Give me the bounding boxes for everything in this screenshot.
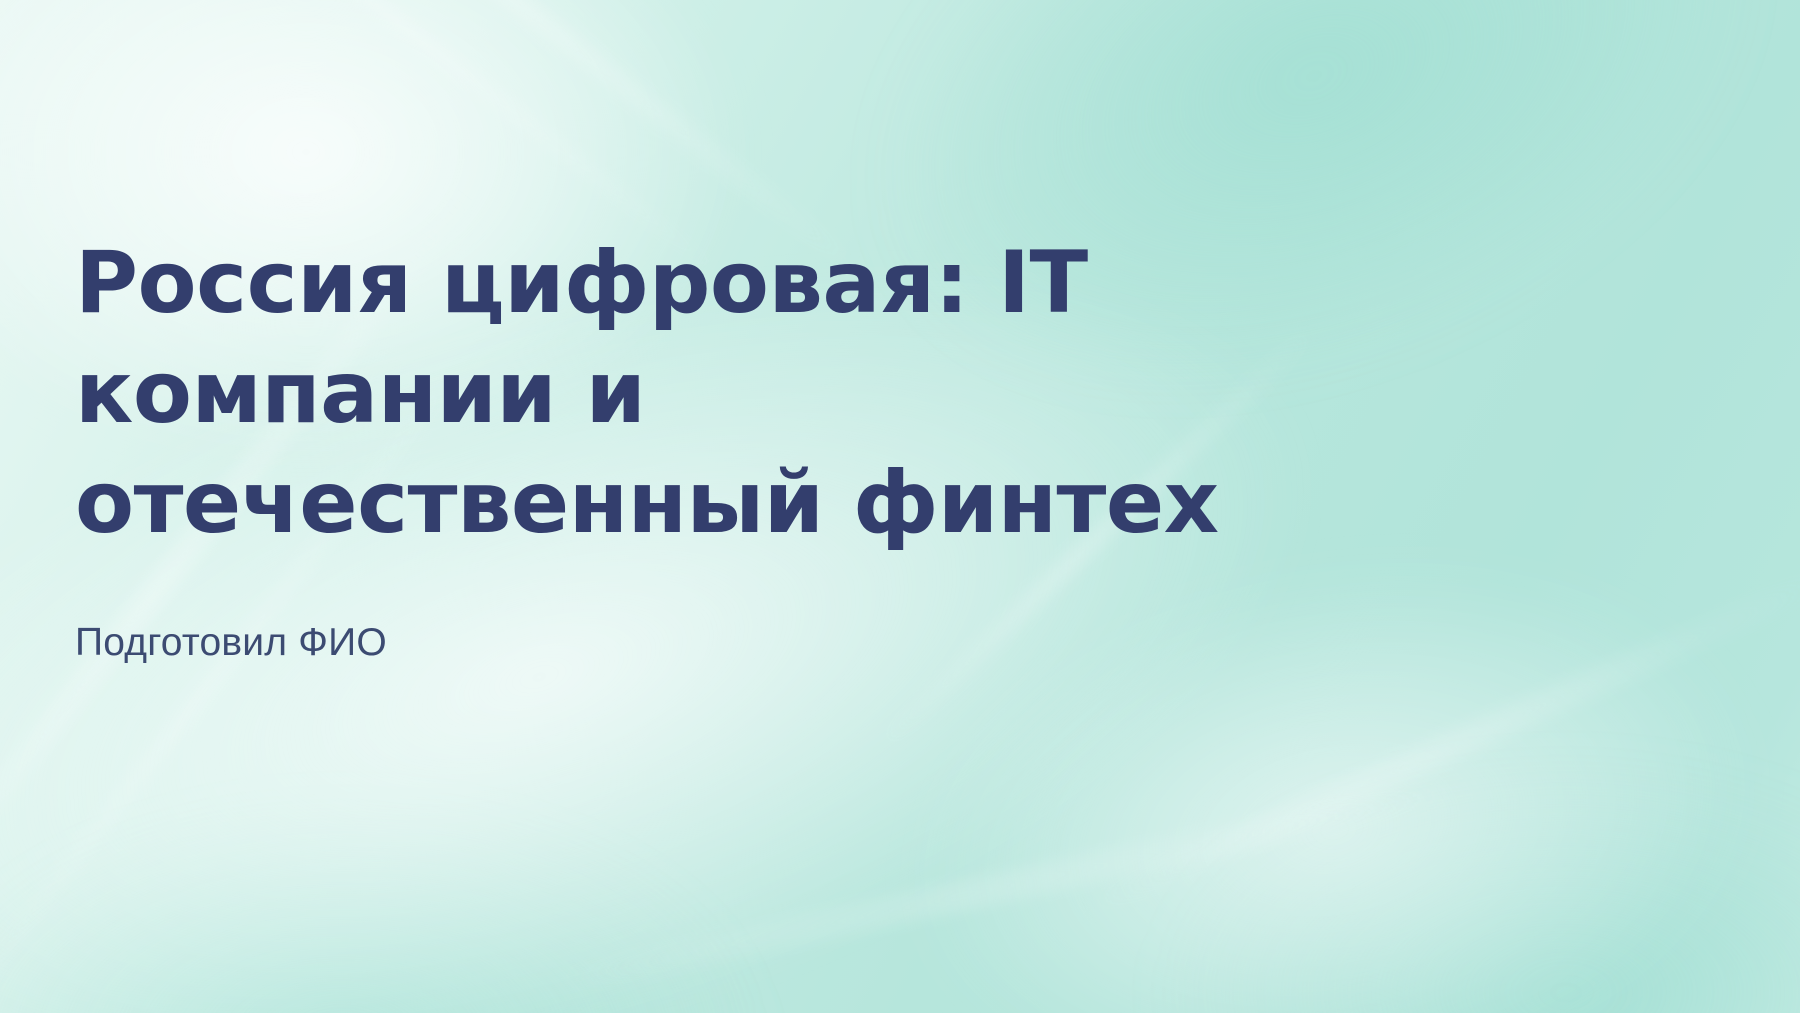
slide-title: Россия цифровая: IT компании и отечестве… [75,228,1405,558]
title-slide: Россия цифровая: IT компании и отечестве… [0,0,1800,1013]
slide-subtitle: Подготовил ФИО [75,558,1405,667]
title-block: Россия цифровая: IT компании и отечестве… [75,228,1405,667]
